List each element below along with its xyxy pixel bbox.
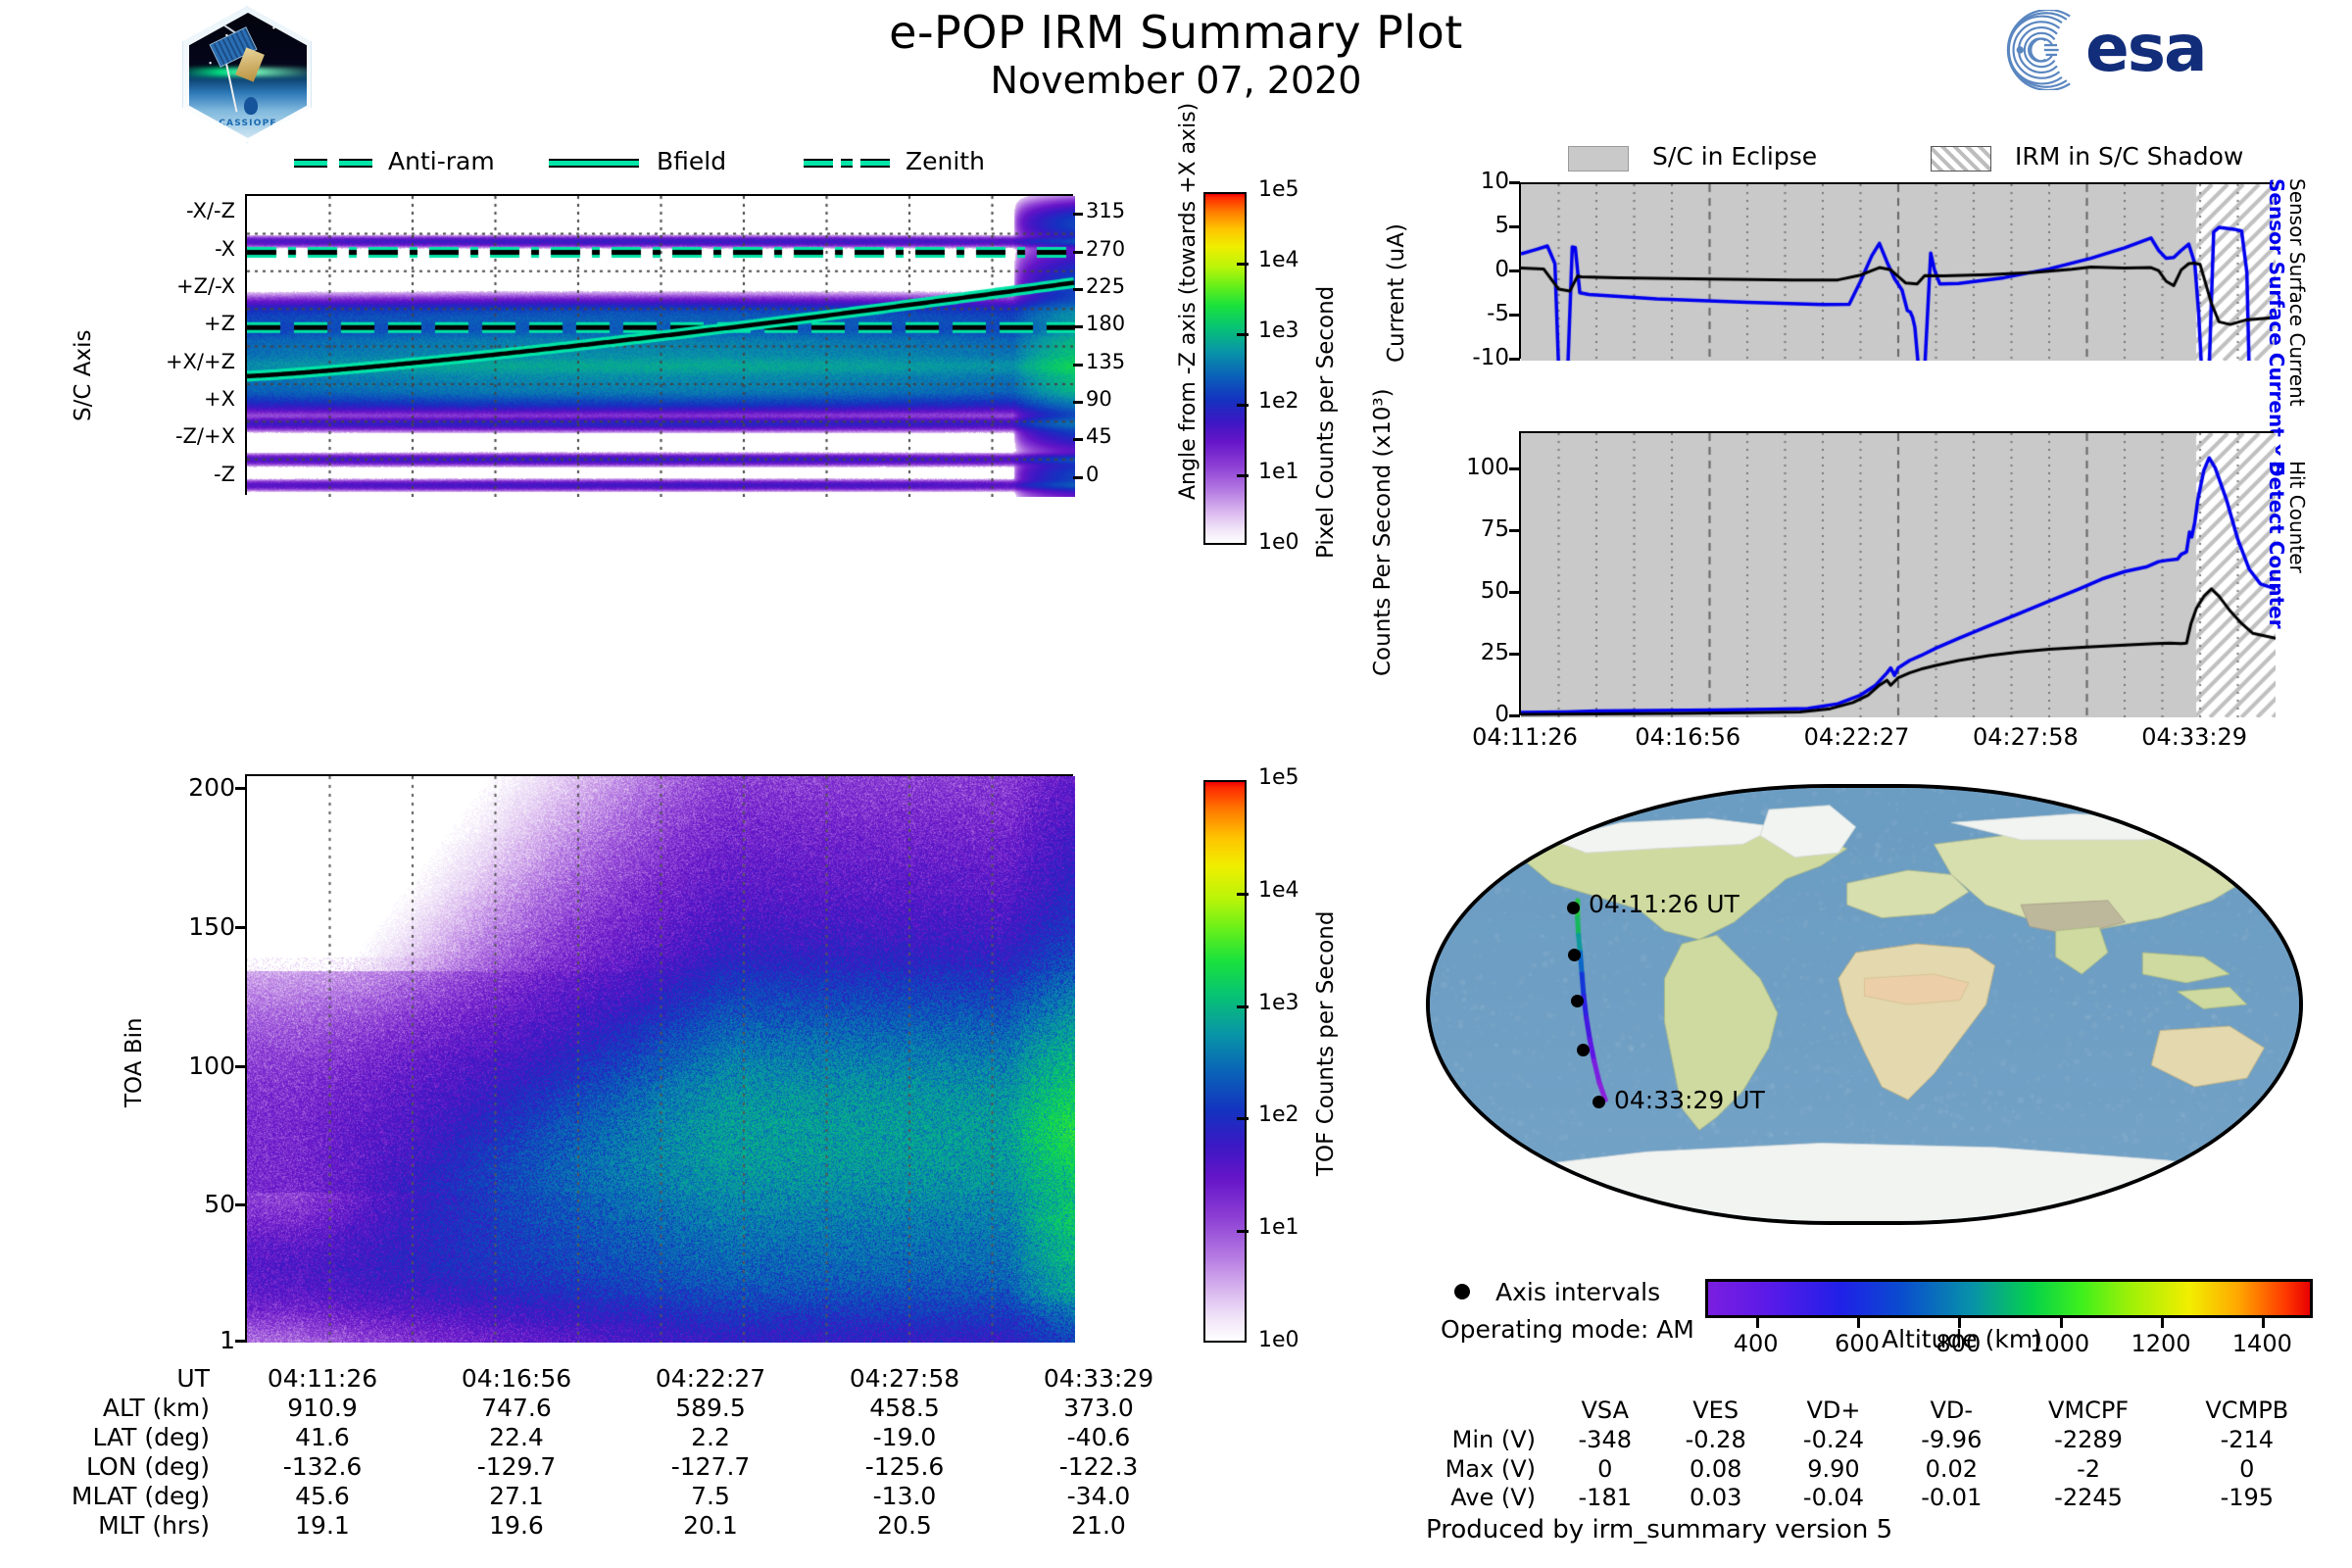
current-plot-canvas bbox=[1521, 184, 2276, 361]
ephemeris-cell-0-0: 04:11:26 bbox=[225, 1364, 419, 1394]
sc-axis-tickmark-0 bbox=[1073, 213, 1083, 216]
ephemeris-row-label-3: LON (deg) bbox=[39, 1452, 225, 1482]
altitude-tick-3 bbox=[2060, 1318, 2063, 1328]
sc-axis-tickmark-1 bbox=[1073, 251, 1083, 254]
operating-mode-label: Operating mode: AM bbox=[1441, 1315, 1694, 1344]
tof-cb-tick-2: 1e2 bbox=[1258, 1102, 1299, 1127]
sc-axis-right-tick-0: 315 bbox=[1086, 199, 1145, 222]
current-right-label-black: Sensor Surface Current bbox=[2309, 178, 2352, 202]
pixel-cb-mark-2 bbox=[1237, 404, 1249, 407]
counts-ytick-2: 50 bbox=[1411, 578, 1509, 604]
tof-counts-colorbar bbox=[1203, 780, 1247, 1343]
voltage-row-0: Min (V)-348-0.28-0.24-9.96-2289-214 bbox=[1426, 1426, 2327, 1455]
axis-interval-dot-icon bbox=[1454, 1284, 1470, 1299]
voltage-col-header-5: VCMPB bbox=[2167, 1396, 2327, 1426]
voltage-row-1: Max (V)00.089.900.02-20 bbox=[1426, 1455, 2327, 1485]
pixel-cb-tick-3: 1e3 bbox=[1258, 318, 1299, 343]
eclipse-legend-label-1: S/C in Eclipse bbox=[1652, 142, 1817, 171]
legend-label-zenith: Zenith bbox=[906, 147, 985, 175]
sc-axis-right-tick-4: 135 bbox=[1086, 350, 1145, 373]
voltage-col-header-4: VMCPF bbox=[2010, 1396, 2166, 1426]
sc-axis-ytick-7: -Z bbox=[59, 463, 235, 486]
tof-cb-mark-1 bbox=[1237, 1230, 1249, 1233]
anti-ram-dash-1 bbox=[294, 159, 327, 168]
sc-axis-heatmap-canvas bbox=[247, 196, 1075, 497]
tof-cb-tick-1: 1e1 bbox=[1258, 1215, 1299, 1240]
counts-tickmark-0 bbox=[1509, 714, 1520, 717]
pixel-cb-tick-1: 1e1 bbox=[1258, 460, 1299, 484]
legend-label-bfield: Bfield bbox=[657, 147, 726, 175]
ephemeris-row-label-5: MLT (hrs) bbox=[39, 1511, 225, 1541]
ephemeris-cell-4-3: -13.0 bbox=[808, 1482, 1002, 1511]
counts-tickmark-2 bbox=[1509, 591, 1520, 594]
altitude-tick-4 bbox=[2161, 1318, 2164, 1328]
tof-cb-tick-5: 1e5 bbox=[1258, 765, 1299, 790]
eclipse-legend-label-2: IRM in S/C Shadow bbox=[2015, 142, 2243, 171]
counts-xtick-1: 04:16:56 bbox=[1635, 723, 1740, 751]
voltage-cell-1-2: 9.90 bbox=[1775, 1455, 1892, 1485]
sc-axis-ytick-5: +X bbox=[59, 387, 235, 411]
ephemeris-cell-5-4: 21.0 bbox=[1002, 1511, 1196, 1541]
sc-axis-tickmark-3 bbox=[1073, 325, 1083, 328]
axes-overlay-legend: Anti-ram Bfield Zenith bbox=[294, 147, 1019, 180]
ephemeris-cell-1-4: 373.0 bbox=[1002, 1394, 1196, 1423]
current-tickmark-1 bbox=[1509, 314, 1520, 317]
counts-ylabel: Counts Per Second (x10³) bbox=[1370, 676, 1615, 702]
ephemeris-row-ut: UT04:11:2604:16:5604:22:2704:27:5804:33:… bbox=[39, 1364, 1196, 1394]
ephemeris-cell-3-4: -122.3 bbox=[1002, 1452, 1196, 1482]
toa-ytick-4: 200 bbox=[108, 773, 235, 802]
sc-axis-ytick-6: -Z/+X bbox=[59, 424, 235, 448]
voltage-cell-0-1: -0.28 bbox=[1657, 1426, 1775, 1455]
tof-cb-mark-3 bbox=[1237, 1005, 1249, 1008]
ephemeris-cell-5-3: 20.5 bbox=[808, 1511, 1002, 1541]
ephemeris-cell-4-0: 45.6 bbox=[225, 1482, 419, 1511]
ground-track-map[interactable]: 04:11:26 UT 04:33:29 UT bbox=[1426, 784, 2303, 1225]
ephemeris-cell-1-2: 589.5 bbox=[613, 1394, 808, 1423]
sc-axis-right-tick-5: 90 bbox=[1086, 387, 1145, 411]
toa-tickmark-0 bbox=[235, 1340, 247, 1343]
counts-tickmark-1 bbox=[1509, 653, 1520, 656]
eclipse-swatch-hatched bbox=[1931, 146, 1991, 171]
voltage-table-inner: VSAVESVD+VD-VMCPFVCMPBMin (V)-348-0.28-0… bbox=[1426, 1396, 2327, 1513]
tof-cb-mark-2 bbox=[1237, 1117, 1249, 1120]
ephemeris-cell-3-3: -125.6 bbox=[808, 1452, 1002, 1482]
toa-tickmark-2 bbox=[235, 1065, 247, 1068]
toa-tickmark-1 bbox=[235, 1203, 247, 1206]
sc-axis-tickmark-6 bbox=[1073, 438, 1083, 441]
altitude-tick-1 bbox=[1857, 1318, 1860, 1328]
axis-intervals-label: Axis intervals bbox=[1495, 1278, 1660, 1306]
cassiope-hex-frame: CASSIOPE bbox=[182, 6, 312, 143]
produced-by-label: Produced by irm_summary version 5 bbox=[1426, 1515, 1892, 1544]
ephemeris-cell-4-1: 27.1 bbox=[419, 1482, 613, 1511]
toa-bin-heatmap-canvas bbox=[247, 776, 1075, 1343]
map-point-interval-3 bbox=[1577, 1044, 1590, 1056]
ephemeris-row-label-1: ALT (km) bbox=[39, 1394, 225, 1423]
ephemeris-cell-3-1: -129.7 bbox=[419, 1452, 613, 1482]
cassiope-logo: CASSIOPE bbox=[182, 6, 312, 143]
ephemeris-cell-2-1: 22.4 bbox=[419, 1423, 613, 1452]
map-label-end: 04:33:29 UT bbox=[1614, 1086, 1765, 1114]
zenith-dash-2 bbox=[860, 159, 890, 168]
current-tickmark-3 bbox=[1509, 225, 1520, 228]
pixel-cb-mark-4 bbox=[1237, 263, 1249, 266]
sc-axis-tickmark-5 bbox=[1073, 401, 1083, 404]
ephemeris-cell-1-3: 458.5 bbox=[808, 1394, 1002, 1423]
current-ytick-4: 10 bbox=[1421, 169, 1509, 194]
ephemeris-table-inner: UT04:11:2604:16:5604:22:2704:27:5804:33:… bbox=[39, 1364, 1196, 1541]
sc-axis-right-tick-1: 270 bbox=[1086, 237, 1145, 261]
counts-plot[interactable] bbox=[1519, 431, 2274, 715]
ephemeris-cell-2-4: -40.6 bbox=[1002, 1423, 1196, 1452]
ephemeris-row-mlat: MLAT (deg)45.627.17.5-13.0-34.0 bbox=[39, 1482, 1196, 1511]
ephemeris-cell-5-0: 19.1 bbox=[225, 1511, 419, 1541]
counts-xtick-2: 04:22:27 bbox=[1804, 723, 1910, 751]
sc-axis-tickmark-2 bbox=[1073, 288, 1083, 291]
toa-bin-ylabel: TOA Bin bbox=[122, 1107, 212, 1133]
altitude-colorbar-ticks: 400600800100012001400 bbox=[1705, 1279, 2313, 1367]
ephemeris-cell-4-4: -34.0 bbox=[1002, 1482, 1196, 1511]
voltage-cell-1-5: 0 bbox=[2167, 1455, 2327, 1485]
voltage-cell-1-4: -2 bbox=[2010, 1455, 2166, 1485]
voltage-cell-1-0: 0 bbox=[1553, 1455, 1657, 1485]
pixel-cb-mark-3 bbox=[1237, 333, 1249, 336]
toa-bin-spectrogram-plot[interactable] bbox=[245, 774, 1073, 1341]
voltage-cell-2-1: 0.03 bbox=[1657, 1484, 1775, 1513]
sc-axis-spectrogram-plot[interactable] bbox=[245, 194, 1073, 495]
voltage-col-header-0: VSA bbox=[1553, 1396, 1657, 1426]
zenith-dash-1 bbox=[804, 159, 833, 168]
voltage-header-corner bbox=[1426, 1396, 1553, 1426]
sc-axis-ytick-4: +X/+Z bbox=[59, 350, 235, 373]
eclipse-swatch-solid bbox=[1568, 146, 1629, 171]
counts-plot-canvas bbox=[1521, 433, 2276, 717]
ephemeris-cell-5-2: 20.1 bbox=[613, 1511, 808, 1541]
legend-label-anti-ram: Anti-ram bbox=[388, 147, 495, 175]
voltage-col-header-3: VD- bbox=[1892, 1396, 2010, 1426]
counts-ytick-4: 100 bbox=[1411, 455, 1509, 480]
esa-logo: esa bbox=[1999, 8, 2323, 92]
zenith-dot bbox=[841, 159, 853, 168]
map-label-start: 04:11:26 UT bbox=[1589, 890, 1739, 918]
sc-axis-ytick-0: -X/-Z bbox=[59, 199, 235, 222]
ephemeris-row-mlt: MLT (hrs)19.119.620.120.521.0 bbox=[39, 1511, 1196, 1541]
ephemeris-cell-1-0: 910.9 bbox=[225, 1394, 419, 1423]
ephemeris-cell-3-0: -132.6 bbox=[225, 1452, 419, 1482]
counts-ytick-1: 25 bbox=[1411, 640, 1509, 665]
voltage-header-row: VSAVESVD+VD-VMCPFVCMPB bbox=[1426, 1396, 2327, 1426]
voltage-cell-0-5: -214 bbox=[2167, 1426, 2327, 1455]
pixel-counts-colorbar bbox=[1203, 192, 1247, 545]
counts-tickmark-4 bbox=[1509, 467, 1520, 470]
voltage-cell-2-5: -195 bbox=[2167, 1484, 2327, 1513]
voltage-table: VSAVESVD+VD-VMCPFVCMPBMin (V)-348-0.28-0… bbox=[1426, 1396, 2327, 1513]
map-legend: Axis intervals Operating mode: AM bbox=[1441, 1274, 1695, 1352]
sc-axis-ytick-3: +Z bbox=[59, 312, 235, 335]
map-point-interval-1 bbox=[1568, 949, 1581, 961]
sc-axis-tickmark-7 bbox=[1073, 476, 1083, 479]
pixel-cb-tick-4: 1e4 bbox=[1258, 248, 1299, 272]
pixel-cb-tick-5: 1e5 bbox=[1258, 177, 1299, 202]
current-plot[interactable] bbox=[1519, 182, 2274, 359]
voltage-cell-2-0: -181 bbox=[1553, 1484, 1657, 1513]
altitude-tick-label-0: 400 bbox=[1734, 1330, 1779, 1357]
map-point-start bbox=[1567, 902, 1580, 914]
voltage-cell-0-2: -0.24 bbox=[1775, 1426, 1892, 1455]
current-ytick-2: 0 bbox=[1421, 257, 1509, 282]
counts-xtick-3: 04:27:58 bbox=[1973, 723, 2079, 751]
voltage-row-label-2: Ave (V) bbox=[1426, 1484, 1553, 1513]
counts-xtick-4: 04:33:29 bbox=[2141, 723, 2247, 751]
ephemeris-cell-0-4: 04:33:29 bbox=[1002, 1364, 1196, 1394]
altitude-tick-label-4: 1200 bbox=[2131, 1330, 2190, 1357]
sc-axis-right-tick-2: 225 bbox=[1086, 274, 1145, 298]
cassiope-hex-art: CASSIOPE bbox=[189, 13, 307, 138]
cassiope-badge-text: CASSIOPE bbox=[189, 119, 307, 128]
counts-xtick-0: 04:11:26 bbox=[1472, 723, 1578, 751]
altitude-tick-label-5: 1400 bbox=[2232, 1330, 2292, 1357]
toa-ytick-3: 150 bbox=[108, 912, 235, 941]
ephemeris-row-label-4: MLAT (deg) bbox=[39, 1482, 225, 1511]
esa-emblem-icon bbox=[1999, 10, 2080, 90]
ephemeris-cell-3-2: -127.7 bbox=[613, 1452, 808, 1482]
pixel-cb-tick-0: 1e0 bbox=[1258, 530, 1299, 555]
sc-axis-right-tick-7: 0 bbox=[1086, 463, 1145, 486]
eclipse-legend: S/C in Eclipse IRM in S/C Shadow bbox=[1509, 142, 2332, 175]
toa-ytick-1: 50 bbox=[108, 1190, 235, 1218]
ephemeris-cell-2-3: -19.0 bbox=[808, 1423, 1002, 1452]
sc-axis-ytick-2: +Z/-X bbox=[59, 274, 235, 298]
ephemeris-row-lat: LAT (deg)41.622.42.2-19.0-40.6 bbox=[39, 1423, 1196, 1452]
voltage-row-label-0: Min (V) bbox=[1426, 1426, 1553, 1455]
map-canvas bbox=[1430, 788, 2299, 1221]
voltage-cell-0-3: -9.96 bbox=[1892, 1426, 2010, 1455]
ephemeris-cell-0-1: 04:16:56 bbox=[419, 1364, 613, 1394]
ephemeris-cell-1-1: 747.6 bbox=[419, 1394, 613, 1423]
ephemeris-cell-0-3: 04:27:58 bbox=[808, 1364, 1002, 1394]
voltage-row-2: Ave (V)-1810.03-0.04-0.01-2245-195 bbox=[1426, 1484, 2327, 1513]
current-tickmark-2 bbox=[1509, 269, 1520, 272]
counts-ytick-3: 75 bbox=[1411, 516, 1509, 542]
voltage-cell-1-3: 0.02 bbox=[1892, 1455, 2010, 1485]
tof-cb-tick-3: 1e3 bbox=[1258, 991, 1299, 1015]
esa-wordmark: esa bbox=[2085, 12, 2206, 86]
altitude-colorbar-label: Altitude (km) bbox=[1882, 1325, 2042, 1353]
sc-axis-right-tick-3: 180 bbox=[1086, 312, 1145, 335]
map-point-interval-2 bbox=[1571, 995, 1584, 1007]
bfield-solid-line bbox=[549, 159, 639, 168]
voltage-cell-1-1: 0.08 bbox=[1657, 1455, 1775, 1485]
counts-tickmark-3 bbox=[1509, 529, 1520, 532]
current-ytick-0: -10 bbox=[1421, 345, 1509, 370]
ephemeris-row-label-0: UT bbox=[39, 1364, 225, 1394]
map-globe-shape bbox=[1426, 784, 2303, 1225]
current-tickmark-0 bbox=[1509, 358, 1520, 361]
altitude-tick-label-1: 600 bbox=[1835, 1330, 1880, 1357]
voltage-row-label-1: Max (V) bbox=[1426, 1455, 1553, 1485]
sc-axis-right-tick-6: 45 bbox=[1086, 424, 1145, 448]
voltage-col-header-2: VD+ bbox=[1775, 1396, 1892, 1426]
toa-tickmark-3 bbox=[235, 926, 247, 929]
ephemeris-row-alt: ALT (km)910.9747.6589.5458.5373.0 bbox=[39, 1394, 1196, 1423]
altitude-tick-5 bbox=[2262, 1318, 2265, 1328]
current-ytick-3: 5 bbox=[1421, 213, 1509, 238]
ephemeris-cell-0-2: 04:22:27 bbox=[613, 1364, 808, 1394]
toa-ytick-2: 100 bbox=[108, 1052, 235, 1080]
voltage-cell-2-2: -0.04 bbox=[1775, 1484, 1892, 1513]
ephemeris-cell-5-1: 19.6 bbox=[419, 1511, 613, 1541]
counts-right-label-black: Hit Counter bbox=[2309, 461, 2352, 484]
voltage-cell-2-4: -2245 bbox=[2010, 1484, 2166, 1513]
toa-ytick-0: 1 bbox=[108, 1326, 235, 1354]
sc-axis-ytick-1: -X bbox=[59, 237, 235, 261]
voltage-cell-0-0: -348 bbox=[1553, 1426, 1657, 1455]
sc-axis-tickmark-4 bbox=[1073, 364, 1083, 367]
tof-cb-tick-0: 1e0 bbox=[1258, 1328, 1299, 1352]
voltage-cell-0-4: -2289 bbox=[2010, 1426, 2166, 1455]
current-tickmark-4 bbox=[1509, 181, 1520, 184]
ephemeris-row-lon: LON (deg)-132.6-129.7-127.7-125.6-122.3 bbox=[39, 1452, 1196, 1482]
ephemeris-table: UT04:11:2604:16:5604:22:2704:27:5804:33:… bbox=[39, 1364, 1196, 1541]
tof-cb-mark-4 bbox=[1237, 893, 1249, 896]
anti-ram-dash-2 bbox=[339, 159, 372, 168]
ephemeris-cell-2-0: 41.6 bbox=[225, 1423, 419, 1452]
pixel-cb-tick-2: 1e2 bbox=[1258, 389, 1299, 414]
altitude-tick-0 bbox=[1756, 1318, 1759, 1328]
agency-seal-icon bbox=[244, 97, 258, 115]
tof-cb-tick-4: 1e4 bbox=[1258, 878, 1299, 903]
current-ytick-1: -5 bbox=[1421, 301, 1509, 326]
ephemeris-cell-4-2: 7.5 bbox=[613, 1482, 808, 1511]
toa-tickmark-4 bbox=[235, 787, 247, 790]
ephemeris-cell-2-2: 2.2 bbox=[613, 1423, 808, 1452]
pixel-cb-mark-1 bbox=[1237, 474, 1249, 477]
voltage-cell-2-3: -0.01 bbox=[1892, 1484, 2010, 1513]
voltage-col-header-1: VES bbox=[1657, 1396, 1775, 1426]
map-point-end bbox=[1592, 1096, 1605, 1108]
ephemeris-row-label-2: LAT (deg) bbox=[39, 1423, 225, 1452]
